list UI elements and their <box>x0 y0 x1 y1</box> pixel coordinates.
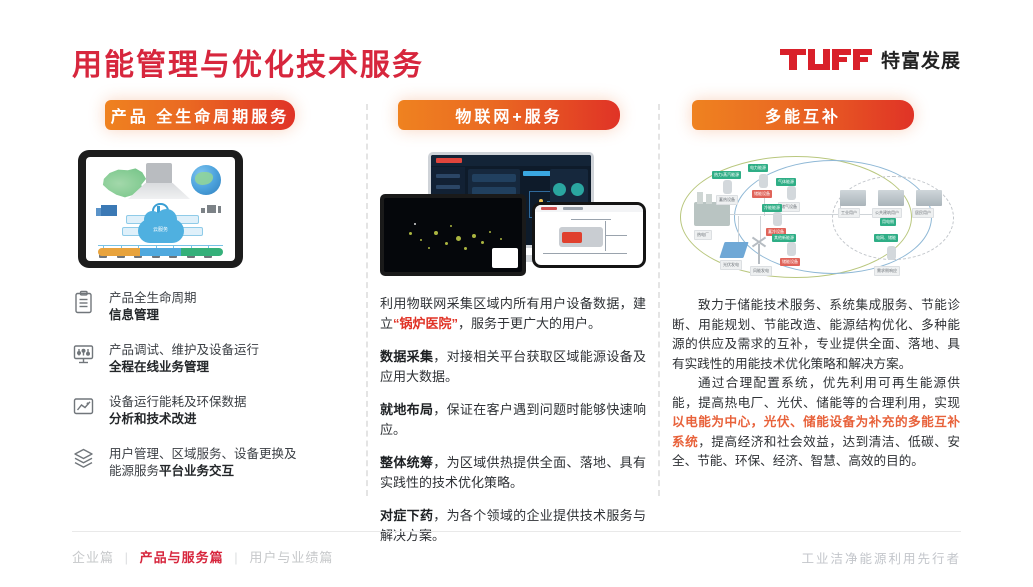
column-divider-1 <box>366 104 368 496</box>
feature-item-text: 产品全生命周期 信息管理 <box>109 290 197 324</box>
footer-nav-item-products[interactable]: 产品与服务篇 <box>140 550 224 565</box>
footer-nav-item-customers[interactable]: 用户与业绩篇 <box>249 550 333 565</box>
text-run-bold: 数据采集 <box>380 349 433 364</box>
chart-image-icon <box>72 394 96 420</box>
footer-nav: 企业篇 | 产品与服务篇 | 用户与业绩篇 <box>72 547 333 566</box>
text-run-bold: 整体统筹 <box>380 455 433 470</box>
node-label: 其他新能源 <box>772 234 796 242</box>
tablet-device-illustration: 云服务 <box>78 150 243 268</box>
node-label: 热力/蒸汽能源 <box>712 171 741 179</box>
paragraph: 通过合理配置系统，优先利用可再生能源供能，提高热电厂、光伏、储能等的合理利用，实… <box>672 374 960 472</box>
phone-screen <box>535 205 643 265</box>
paragraph: 致力于储能技术服务、系统集成服务、节能诊断、用能规划、节能改造、能源结构优化、多… <box>672 296 960 374</box>
feature-line-1: 产品调试、维护及设备运行 <box>109 343 259 357</box>
column-2-banner-label: 物联网+服务 <box>455 103 562 127</box>
energy-network-diagram: 热电厂 电力能源 储能设备 热力/蒸汽能源 蓄热设备 气体能源 储气设备 冷能能… <box>672 150 960 282</box>
text-run: ，提高经济和社会效益，达到清洁、低碳、安全、节能、环保、经济、智慧、高效的目的。 <box>672 435 960 469</box>
column-2-body: 利用物联网采集区域内所有用户设备数据，建立“锅炉医院”，服务于更广大的用户。 数… <box>380 294 646 546</box>
footer-tagline: 工业洁净能源利用先行者 <box>801 548 961 567</box>
slide-header: 用能管理与优化技术服务 特富发展 <box>0 0 1033 95</box>
tablet-map-illustration <box>380 194 526 276</box>
node-label: 储能设备 <box>752 190 772 198</box>
node-label: 用电侧 <box>880 218 896 226</box>
feature-item-text: 产品调试、维护及设备运行 全程在线业务管理 <box>109 342 259 376</box>
feature-line-1: 设备运行能耗及环保数据 <box>109 395 247 409</box>
node-label: 居民用户 <box>912 208 934 218</box>
feature-line-1: 用户管理、区域服务、设备更换及 <box>109 447 297 461</box>
monitor-sliders-icon <box>72 342 96 368</box>
server-card-icon <box>146 163 172 184</box>
node-label: 气体能源 <box>776 178 796 186</box>
feature-line-2: 信息管理 <box>109 308 159 322</box>
slide-footer: 企业篇 | 产品与服务篇 | 用户与业绩篇 工业洁净能源利用先行者 <box>0 517 1033 587</box>
feature-line-2: 全程在线业务管理 <box>109 360 209 374</box>
feature-item-text: 用户管理、区域服务、设备更换及 能源服务平台业务交互 <box>109 446 297 480</box>
device-mockup-group <box>380 150 646 278</box>
brand-name: 特富发展 <box>881 46 961 73</box>
wind-turbine-icon <box>758 244 760 264</box>
node-label: 热电厂 <box>694 230 712 240</box>
text-run: ，服务于更广大的用户。 <box>458 316 601 331</box>
node-label: 储能设备 <box>780 258 800 266</box>
node-label: 需求侧响应 <box>874 266 900 276</box>
footer-separator: | <box>125 550 129 565</box>
link-line <box>738 216 739 242</box>
cloud-label: 云服务 <box>138 226 184 233</box>
node-label: 工业用户 <box>838 208 860 218</box>
content-columns: 产品 全生命周期服务 <box>0 100 1033 505</box>
devices-icon <box>201 205 221 213</box>
factory-icon <box>101 205 117 216</box>
node-label: 电网、储能 <box>874 234 898 242</box>
footer-nav-item-company[interactable]: 企业篇 <box>72 550 114 565</box>
slide-root: 用能管理与优化技术服务 特富发展 产品 全生命周期服务 <box>0 0 1033 587</box>
column-3-body: 致力于储能技术服务、系统集成服务、节能诊断、用能规划、节能改造、能源结构优化、多… <box>672 296 960 472</box>
column-3-banner-label: 多能互补 <box>765 103 841 127</box>
layers-icon <box>72 446 96 472</box>
network-node <box>884 246 899 266</box>
text-run: 致力于储能技术服务、系统集成服务、节能诊断、用能规划、节能改造、能源结构优化、多… <box>672 298 960 371</box>
industrial-building-icon <box>840 190 866 206</box>
node-label: 光伏发电 <box>720 260 742 270</box>
column-divider-2 <box>658 104 660 496</box>
column-3-banner: 多能互补 <box>692 100 914 130</box>
commercial-building-icon <box>878 190 904 206</box>
boiler-diagram-icon <box>559 227 603 247</box>
page-title: 用能管理与优化技术服务 <box>72 40 424 84</box>
paragraph: 数据采集，对接相关平台获取区域能源设备及应用大数据。 <box>380 347 646 387</box>
feature-line-2: 分析和技术改进 <box>109 412 197 426</box>
process-bar-strip <box>98 248 223 256</box>
paragraph: 就地布局，保证在客户遇到问题时能够快速响应。 <box>380 400 646 440</box>
dashboard-topbar <box>431 155 591 166</box>
cloud-service-icon: 云服务 <box>138 219 184 243</box>
link-line <box>730 214 764 215</box>
column-1-banner-label: 产品 全生命周期服务 <box>111 103 289 127</box>
column-1-artwork: 云服务 <box>72 150 364 272</box>
tablet-map-screen <box>384 198 522 272</box>
node-label: 公共建筑用户 <box>872 208 902 218</box>
feature-item-analysis-improvement: 设备运行能耗及环保数据 分析和技术改进 <box>72 394 364 428</box>
power-plant-icon <box>694 202 730 226</box>
feature-item-online-management: 产品调试、维护及设备运行 全程在线业务管理 <box>72 342 364 376</box>
node-label: 风能发电 <box>750 266 772 276</box>
feature-item-platform-interaction: 用户管理、区域服务、设备更换及 能源服务平台业务交互 <box>72 446 364 480</box>
column-multi-energy: 多能互补 热电厂 电力能源 <box>672 100 960 505</box>
feature-line-2-strong: 平台业务交互 <box>159 464 234 478</box>
tuff-wordmark-icon <box>780 49 872 70</box>
column-2-artwork <box>380 150 646 278</box>
dashboard-logo <box>436 158 462 163</box>
column-3-artwork: 热电厂 电力能源 储能设备 热力/蒸汽能源 蓄热设备 气体能源 储气设备 冷能能… <box>672 150 960 282</box>
brand-logo: 特富发展 <box>780 46 961 73</box>
paragraph: 整体统筹，为区域供热提供全面、落地、具有实践性的技术优化策略。 <box>380 453 646 493</box>
footer-separator: | <box>234 550 238 565</box>
text-run-bold: 就地布局 <box>380 402 433 417</box>
phone-topbar <box>535 205 643 212</box>
column-iot-service: 物联网+服务 <box>380 100 646 505</box>
feature-list: 产品全生命周期 信息管理 <box>72 290 364 480</box>
feature-line-2-normal: 能源服务 <box>109 464 159 478</box>
column-1-banner: 产品 全生命周期服务 <box>105 100 295 130</box>
paragraph: 利用物联网采集区域内所有用户设备数据，建立“锅炉医院”，服务于更广大的用户。 <box>380 294 646 334</box>
node-label: 蓄热设备 <box>716 195 738 205</box>
phone-illustration <box>532 202 646 268</box>
residential-building-icon <box>916 190 942 206</box>
tablet-screen: 云服务 <box>86 157 235 261</box>
clipboard-icon <box>72 290 96 316</box>
node-label: 电力能源 <box>748 164 768 172</box>
column-2-banner: 物联网+服务 <box>398 100 620 130</box>
feature-item-lifecycle-info: 产品全生命周期 信息管理 <box>72 290 364 324</box>
column-product-lifecycle: 产品 全生命周期服务 <box>72 100 364 505</box>
text-run: 通过合理配置系统，优先利用可再生能源供能，提高热电厂、光伏、储能等的合理利用，实… <box>672 376 960 410</box>
globe-icon <box>191 165 221 195</box>
feature-line-1: 产品全生命周期 <box>109 291 197 305</box>
node-label: 冷能能源 <box>762 204 782 212</box>
feature-item-text: 设备运行能耗及环保数据 分析和技术改进 <box>109 394 247 428</box>
text-run-highlight: “锅炉医院” <box>393 316 458 331</box>
footer-divider <box>72 531 961 532</box>
map-legend-card <box>492 248 518 268</box>
